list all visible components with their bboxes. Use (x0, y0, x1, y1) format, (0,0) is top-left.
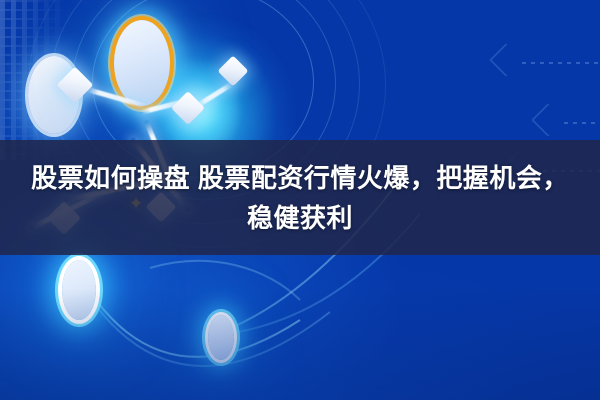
ring-node-large (62, 260, 96, 320)
banner-image: ✦ 股票如何操盘 股票配资行情火爆，把握机会，稳健获利 (0, 0, 600, 400)
hero-node-orange-ring (114, 20, 170, 106)
ring-node-small (208, 315, 234, 360)
caption-band: 股票如何操盘 股票配资行情火爆，把握机会，稳健获利 (0, 140, 600, 255)
banner-caption: 股票如何操盘 股票配资行情火爆，把握机会，稳健获利 (20, 158, 580, 238)
